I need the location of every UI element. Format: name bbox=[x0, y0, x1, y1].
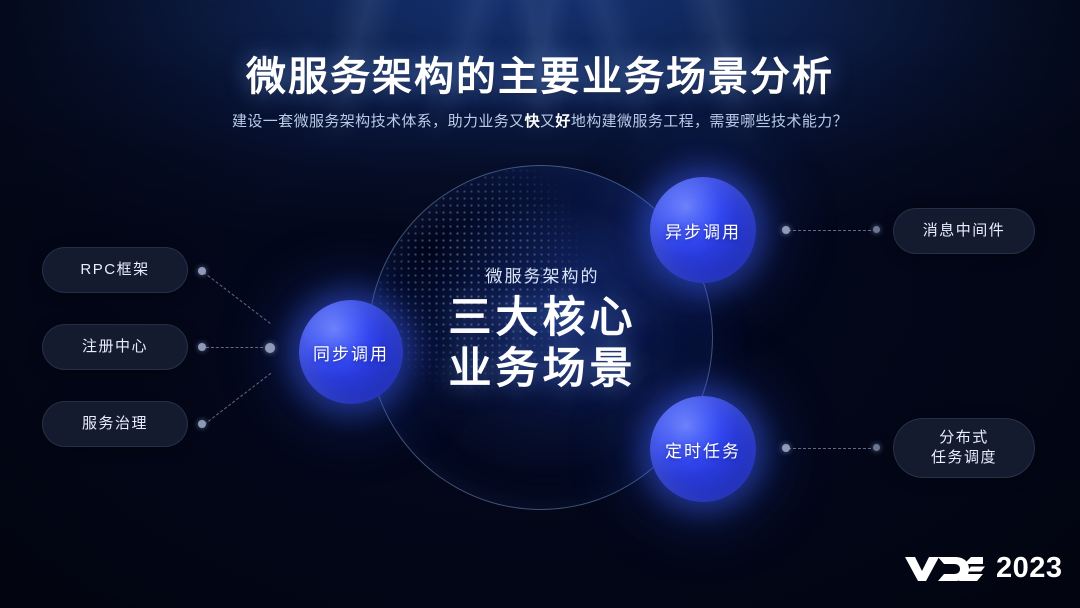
sphere-async-call[interactable]: 异步调用 bbox=[650, 177, 756, 283]
subtitle-highlight-hao: 好 bbox=[555, 113, 570, 130]
subtitle-part-3: 地构建微服务工程，需要哪些技术能力？ bbox=[571, 113, 848, 130]
pill-distributed-scheduling[interactable]: 分布式 任务调度 bbox=[893, 418, 1035, 478]
pill-registry-center-label: 注册中心 bbox=[82, 337, 148, 357]
connector-line-timer bbox=[788, 448, 876, 449]
sphere-scheduled-task[interactable]: 定时任务 bbox=[650, 396, 756, 502]
vdc-logo: 2023 bbox=[905, 553, 1063, 583]
sphere-sync-call-label: 同步调用 bbox=[313, 340, 389, 365]
connector-dot-registry bbox=[198, 343, 206, 351]
core-headline-line1: 三大核心 bbox=[405, 293, 680, 344]
subtitle-part-2: 又 bbox=[540, 113, 555, 130]
connector-dot-async-right bbox=[873, 226, 880, 233]
connector-line-registry bbox=[206, 347, 268, 348]
connector-dot-async-left bbox=[782, 226, 790, 234]
pill-message-middleware[interactable]: 消息中间件 bbox=[893, 208, 1035, 254]
subtitle-part-1: 建设一套微服务架构技术体系，助力业务又 bbox=[232, 113, 525, 130]
pill-distributed-scheduling-label-line1: 分布式 bbox=[931, 428, 997, 448]
pill-registry-center[interactable]: 注册中心 bbox=[42, 324, 188, 370]
connector-dot-timer-left bbox=[782, 444, 790, 452]
core-headline-line2: 业务场景 bbox=[405, 344, 680, 395]
sphere-sync-call[interactable]: 同步调用 bbox=[299, 300, 403, 404]
pill-service-governance-label: 服务治理 bbox=[82, 414, 148, 434]
connector-line-async bbox=[788, 230, 876, 231]
core-label-group: 微服务架构的 三大核心 业务场景 bbox=[405, 262, 680, 395]
vdc-logo-year: 2023 bbox=[996, 554, 1063, 583]
page-subtitle: 建设一套微服务架构技术体系，助力业务又快又好地构建微服务工程，需要哪些技术能力？ bbox=[0, 110, 1080, 131]
sphere-scheduled-task-label: 定时任务 bbox=[665, 437, 741, 462]
pill-distributed-scheduling-label-line2: 任务调度 bbox=[931, 448, 997, 468]
pill-rpc-framework-label: RPC框架 bbox=[80, 260, 149, 280]
connector-dot-timer-right bbox=[873, 444, 880, 451]
pill-service-governance[interactable]: 服务治理 bbox=[42, 401, 188, 447]
core-lead-text: 微服务架构的 bbox=[405, 262, 680, 287]
slide-canvas: 微服务架构的主要业务场景分析 建设一套微服务架构技术体系，助力业务又快又好地构建… bbox=[0, 0, 1080, 608]
sphere-async-call-label: 异步调用 bbox=[665, 218, 741, 243]
pill-message-middleware-label: 消息中间件 bbox=[923, 221, 1006, 241]
pill-rpc-framework[interactable]: RPC框架 bbox=[42, 247, 188, 293]
connector-dot-hub bbox=[265, 343, 275, 353]
connector-dot-governance bbox=[198, 420, 206, 428]
connector-dot-rpc bbox=[198, 267, 206, 275]
subtitle-highlight-kuai: 快 bbox=[525, 113, 540, 130]
page-title: 微服务架构的主要业务场景分析 bbox=[0, 44, 1080, 102]
vdc-logomark-icon bbox=[905, 553, 987, 583]
